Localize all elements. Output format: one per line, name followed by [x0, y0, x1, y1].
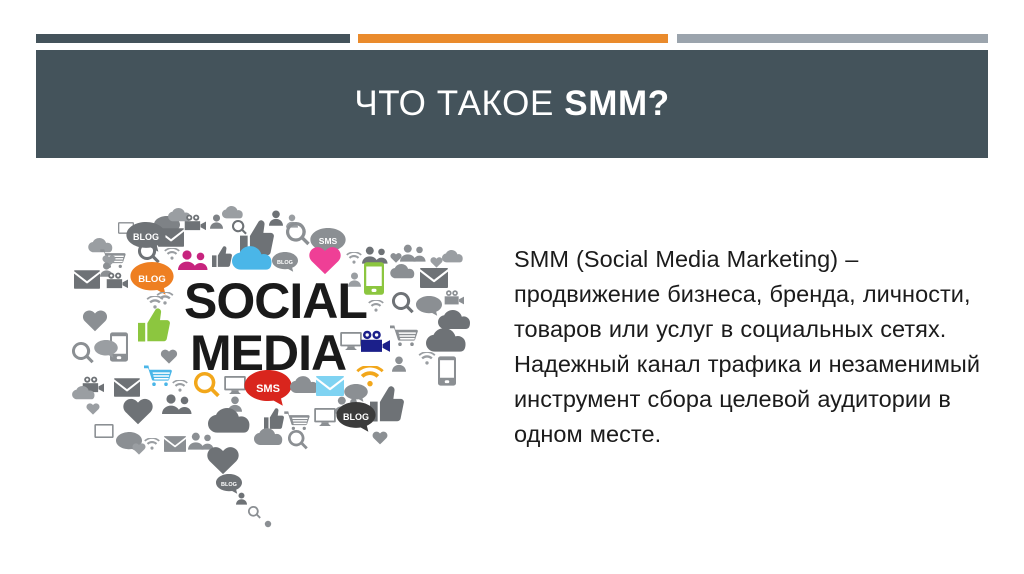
slide-canvas: ЧТО ТАКОЕ SMM?: [0, 0, 1024, 574]
slide-title: ЧТО ТАКОЕ SMM?: [36, 86, 988, 121]
thumb-icon-lime: [138, 308, 170, 341]
top-rule-light: [677, 34, 988, 43]
svg-text:BLOG: BLOG: [221, 482, 237, 488]
top-rule-accent: [358, 34, 668, 43]
headline-social: SOCIAL: [184, 273, 367, 329]
top-rule-dark: [36, 34, 350, 43]
slide-content: BLOG SMS: [0, 190, 1024, 574]
social-media-word-cloud-icon: BLOG SMS: [72, 200, 512, 550]
svg-text:SMS: SMS: [319, 236, 338, 246]
slide-title-light: ЧТО ТАКОЕ: [354, 84, 564, 123]
people-icon-magenta: [178, 250, 208, 270]
description-container: SMM (Social Media Marketing) – продвижен…: [514, 242, 984, 452]
blog-bubble-gray: BLOG: [126, 222, 165, 252]
wifi-icon-gold: [356, 365, 383, 387]
slide-title-bold: SMM?: [564, 84, 669, 123]
heart-icon-pink: [309, 247, 340, 274]
svg-text:SMS: SMS: [256, 383, 280, 395]
phone-icon-lime: [364, 262, 384, 295]
svg-text:BLOG: BLOG: [138, 274, 165, 285]
svg-text:BLOG: BLOG: [277, 260, 293, 266]
title-band: ЧТО ТАКОЕ SMM?: [36, 50, 988, 158]
blog-bubble-dark: BLOG: [336, 402, 375, 432]
cart-icon-blue: [144, 366, 172, 387]
illustration-container: BLOG SMS: [72, 200, 512, 550]
sms-bubble-red: SMS: [244, 370, 291, 406]
svg-text:BLOG: BLOG: [133, 232, 159, 242]
camera-icon-navy: [361, 331, 390, 352]
svg-text:BLOG: BLOG: [343, 412, 369, 422]
envelope-icon-lightblue: [316, 376, 344, 396]
blog-bubble-orange: BLOG: [130, 262, 173, 295]
description-text: SMM (Social Media Marketing) – продвижен…: [514, 242, 984, 452]
